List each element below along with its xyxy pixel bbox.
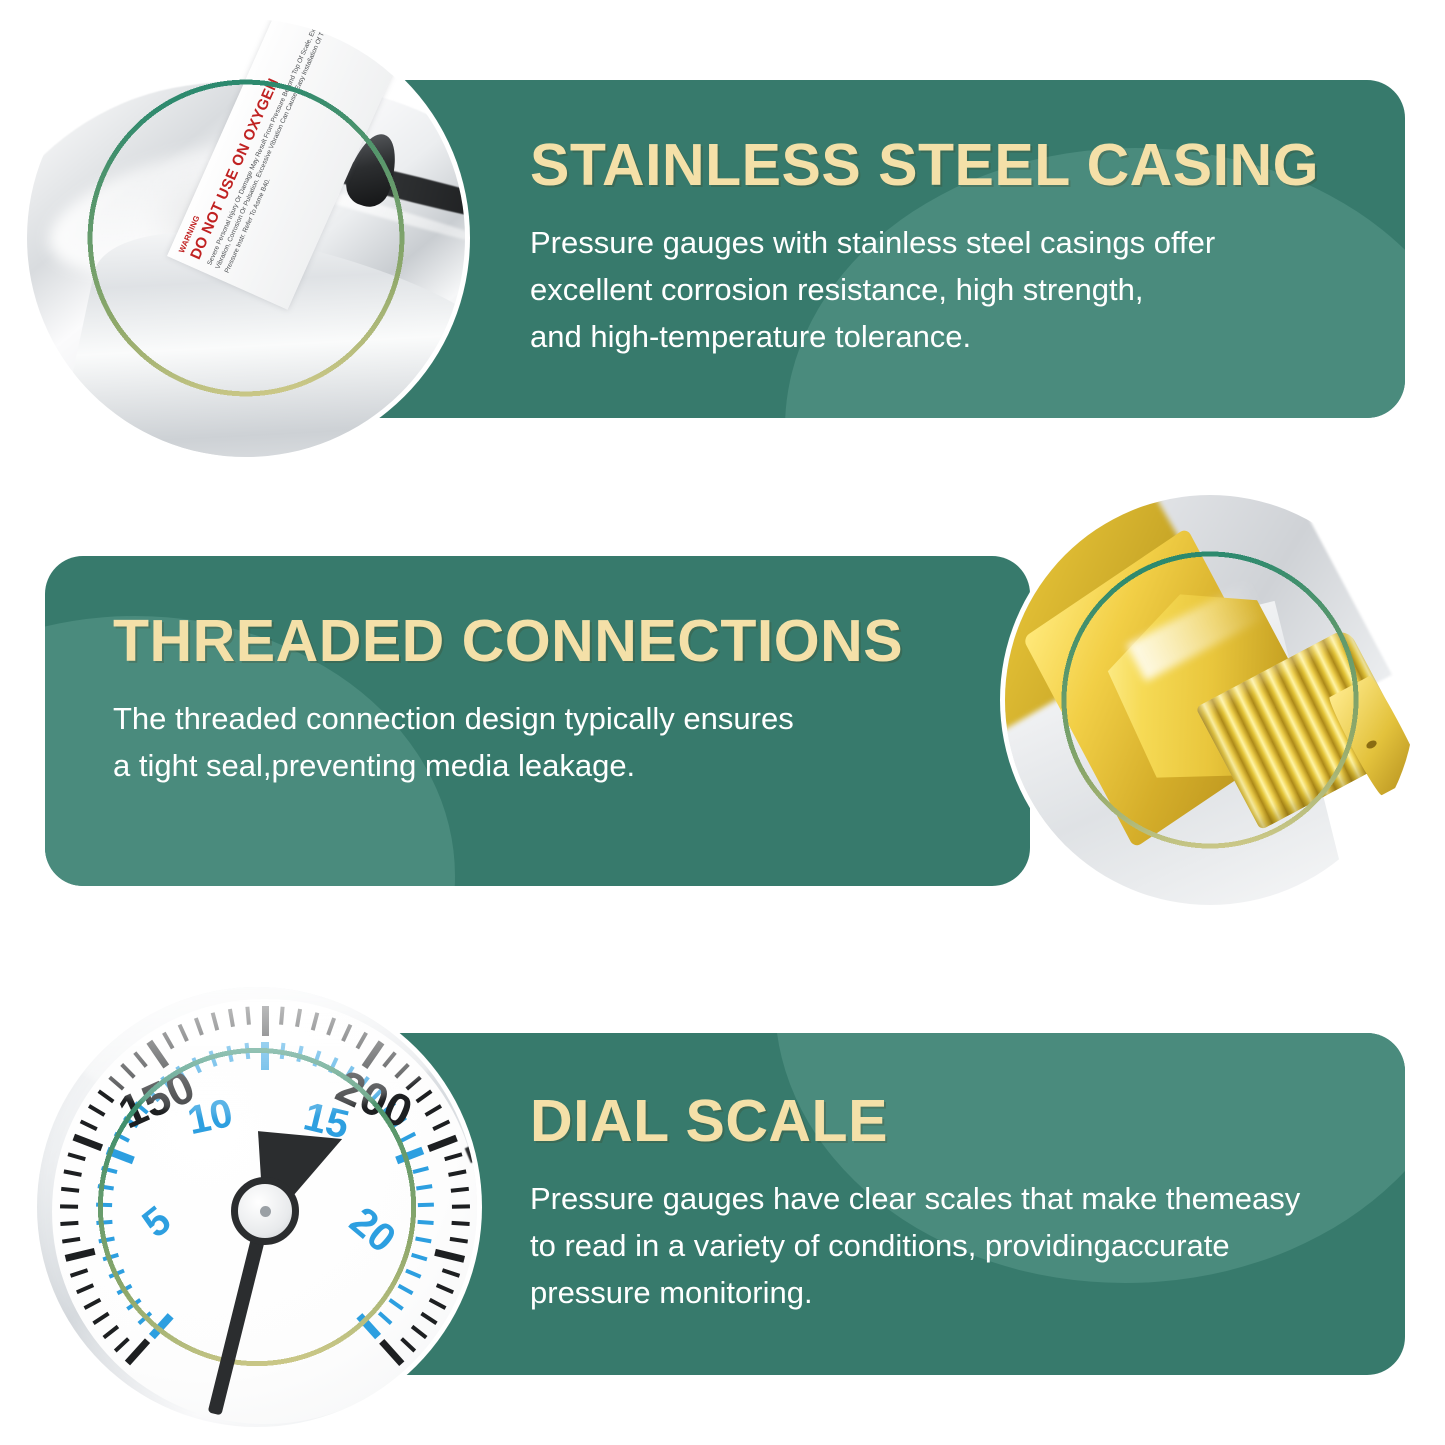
photo-clip	[1005, 495, 1415, 905]
feature-description-line: pressure monitoring.	[530, 1269, 1300, 1316]
gauge: 1502005101520	[37, 987, 477, 1427]
gauge-inner-scale-label: 5	[134, 1198, 179, 1247]
feature-text-block: THREADED CONNECTIONS The threaded connec…	[113, 611, 903, 789]
feature-description-line: The threaded connection design typically…	[113, 695, 903, 742]
feature-text-block: DIAL SCALE Pressure gauges have clear sc…	[530, 1091, 1300, 1316]
feature-description-line: a tight seal,preventing media leakage.	[113, 742, 903, 789]
feature-title: DIAL SCALE	[530, 1091, 1300, 1153]
product-photo-threaded-connection	[1000, 490, 1420, 910]
needle-hub	[231, 1177, 299, 1245]
feature-description-line: and high-temperature tolerance.	[530, 313, 1319, 360]
feature-title: THREADED CONNECTIONS	[113, 611, 903, 673]
photo-clip: WARNING DO NOT USE ON OXYGEN Severe Pers…	[27, 19, 465, 457]
infographic-root: STAINLESS STEEL CASING Pressure gauges w…	[0, 0, 1445, 1445]
feature-description: Pressure gauges with stainless steel cas…	[530, 219, 1319, 360]
feature-description: The threaded connection design typically…	[113, 695, 903, 789]
feature-description: Pressure gauges have clear scales that m…	[530, 1175, 1300, 1316]
feature-description-line: excellent corrosion resistance, high str…	[530, 266, 1319, 313]
feature-description-line: Pressure gauges have clear scales that m…	[530, 1175, 1300, 1222]
photo-clip: 1502005101520	[37, 987, 477, 1427]
feature-description-line: to read in a variety of conditions, prov…	[530, 1222, 1300, 1269]
feature-panel-threaded-connections: THREADED CONNECTIONS The threaded connec…	[45, 556, 1030, 886]
feature-text-block: STAINLESS STEEL CASING Pressure gauges w…	[530, 135, 1319, 360]
gauge-inner-scale-label: 20	[341, 1199, 404, 1262]
product-photo-dial-scale: 1502005101520	[32, 982, 482, 1432]
feature-title: STAINLESS STEEL CASING	[530, 135, 1319, 197]
feature-description-line: Pressure gauges with stainless steel cas…	[530, 219, 1319, 266]
product-photo-stainless-steel-casing: WARNING DO NOT USE ON OXYGEN Severe Pers…	[22, 14, 470, 462]
